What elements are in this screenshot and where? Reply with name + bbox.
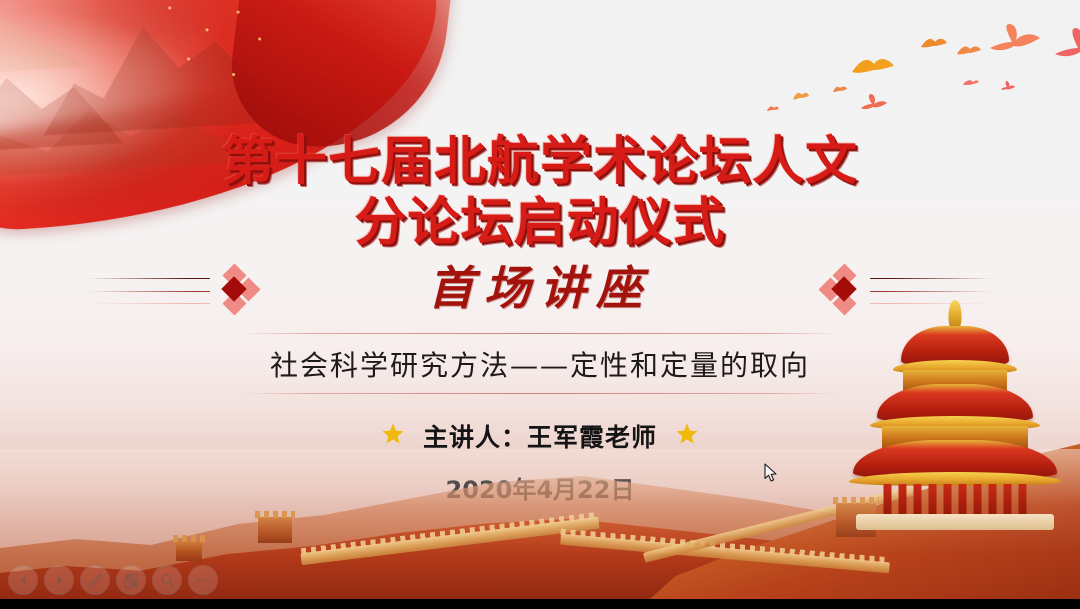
bird-icon: [850, 52, 896, 82]
flying-birds: [750, 12, 1080, 152]
temple-pillars: [883, 484, 1026, 518]
magnifier-icon: [160, 573, 175, 588]
presenter-toolbar[interactable]: [8, 565, 218, 595]
grid-icon: [124, 573, 139, 588]
ellipsis-icon: [196, 573, 211, 588]
more-options-button[interactable]: [188, 565, 218, 595]
watchtower: [258, 517, 292, 543]
pen-icon: [88, 573, 103, 588]
gold-spark: [205, 28, 208, 31]
chevron-right-icon: [53, 574, 66, 587]
presentation-slideshow: 第十七届北航学术论坛人文 分论坛启动仪式: [0, 0, 1080, 609]
bird-icon: [860, 92, 888, 112]
bird-icon: [920, 34, 948, 54]
star-icon-right: [675, 422, 699, 451]
watchtower: [176, 541, 202, 561]
bird-icon: [1052, 26, 1080, 66]
bird-icon: [832, 84, 848, 96]
title-line-1: 第十七届北航学术论坛人文: [0, 132, 1080, 193]
bird-icon: [962, 78, 980, 88]
slide-canvas: 第十七届北航学术论坛人文 分论坛启动仪式: [0, 0, 1080, 599]
star-icon-left: [381, 422, 405, 451]
bird-icon: [1000, 80, 1016, 92]
bird-icon: [792, 90, 810, 103]
bird-icon: [956, 42, 982, 60]
temple-base: [856, 514, 1054, 530]
mouse-pointer: [764, 463, 778, 488]
slide-title: 第十七届北航学术论坛人文 分论坛启动仪式: [0, 132, 1080, 255]
next-slide-button[interactable]: [44, 565, 74, 595]
title-line-2: 分论坛启动仪式: [0, 193, 1080, 254]
bird-icon: [766, 104, 780, 114]
chevron-left-icon: [17, 574, 30, 587]
letterbox-bar: [0, 599, 1080, 609]
slide-grid-button[interactable]: [116, 565, 146, 595]
bird-icon: [988, 22, 1042, 60]
speaker-name: 主讲人：王军霞老师: [423, 418, 657, 454]
temple-of-heaven: [847, 300, 1062, 530]
previous-slide-button[interactable]: [8, 565, 38, 595]
subtitle-rule-bottom: [240, 393, 840, 394]
zoom-button[interactable]: [152, 565, 182, 595]
pen-tool-button[interactable]: [80, 565, 110, 595]
gold-spark: [168, 6, 171, 9]
